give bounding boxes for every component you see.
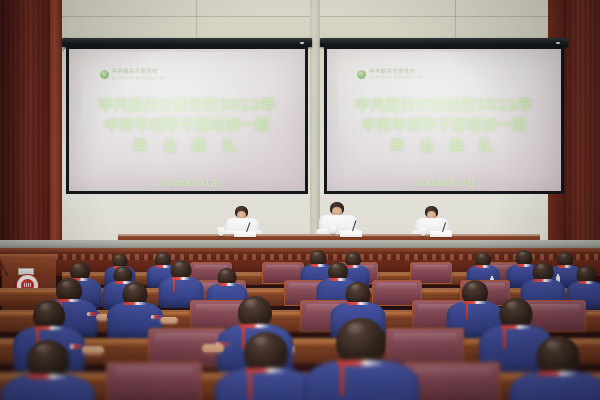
hair-highlight [159,254,165,258]
polo-collar [347,302,370,305]
hair-highlight [313,252,320,256]
polo-collar [476,265,490,268]
party-school-logo-icon [357,70,366,79]
slide-date: 2022年5月31日 [413,178,474,189]
name-plate [234,231,256,237]
conference-hall-photo: 中共韶关市委党校 韶关市行政学院 韶关市社会主义学院 中共韶关市委党校2022年… [0,0,600,400]
polo-collar [219,283,236,286]
left-slide: 中共韶关市委党校 韶关市行政学院 韶关市社会主义学院 中共韶关市委党校2022年… [69,49,305,191]
polo-collar [578,281,594,284]
slide-title: 中共韶关市委党校2022年 中青年领导干部培训一班 毕 业 典 礼 [98,96,275,157]
hair-highlight [118,268,126,273]
lanyard [503,329,506,349]
hair-highlight [351,284,361,291]
hair-highlight [175,262,183,268]
left-projection-screen[interactable]: 中共韶关市委党校 韶关市行政学院 韶关市社会主义学院 中共韶关市委党校2022年… [66,46,308,194]
hair-highlight [222,270,230,275]
audience-arm [160,317,178,324]
hair-highlight [479,254,485,258]
polo-collar [534,279,553,282]
tea-cup [420,228,426,236]
hair-highlight [36,344,53,355]
polo-collar [28,374,68,379]
slide-date: 2022年5月31日 [156,178,217,189]
slide-title-line-1: 中共韶关市委党校2022年 [355,96,532,116]
hair-highlight [128,284,138,291]
hair-highlight [519,252,526,256]
slide-title-line-2: 中青年领导干部培训一班 [98,116,275,136]
slide-logo-sub: 韶关市行政学院 韶关市社会主义学院 [369,76,423,79]
hair-highlight [74,264,82,269]
hair-highlight [347,323,367,336]
slide-title-line-3: 毕 业 典 礼 [98,137,275,157]
wall-seam [62,16,600,17]
hair-highlight [468,283,478,290]
hair-highlight [40,303,53,312]
audience-head [336,318,386,366]
hair-highlight [561,254,567,258]
slide-title-line-1: 中共韶关市委党校2022年 [98,96,275,116]
lanyard [466,304,468,320]
left-wood-pilaster [50,0,62,276]
slide-logo-org: 中共韶关市委党校 [112,70,166,75]
polo-collar [124,302,147,305]
party-school-logo-icon [100,70,109,79]
polo-collar [337,360,385,366]
housing-indicator-icon [556,42,560,44]
tea-cup [218,228,224,236]
right-projection-screen[interactable]: 中共韶关市委党校 韶关市行政学院 韶关市社会主义学院 中共韶关市委党校2022年… [324,46,564,194]
lanyard [340,366,344,396]
hair-highlight [537,264,545,270]
audience-member-foreground [302,318,420,400]
hair-highlight [581,268,589,273]
hair-highlight [332,264,340,269]
tea-cup [330,226,336,234]
hair-highlight [546,340,563,351]
slide-logo-sub: 韶关市行政学院 韶关市社会主义学院 [112,77,166,80]
audience-member-foreground [508,336,600,400]
right-slide: 中共韶关市委党校 韶关市行政学院 韶关市社会主义学院 中共韶关市委党校2022年… [327,49,561,191]
audience-chair[interactable] [106,362,202,400]
slide-title-line-2: 中青年领导干部培训一班 [355,116,532,136]
lanyard [173,279,175,292]
slide-logo: 中共韶关市委党校 韶关市行政学院 韶关市社会主义学院 [357,70,423,79]
slide-title-line-3: 毕 业 典 礼 [355,137,532,157]
hair-highlight [245,299,259,308]
lanyard [248,373,252,399]
housing-indicator-icon [300,42,304,44]
slide-logo: 中共韶关市委党校 韶关市行政学院 韶关市社会主义学院 [100,70,166,79]
hair-highlight [507,301,520,310]
polo-collar [329,278,347,281]
audience-member-foreground [0,340,96,400]
audience-polo-shirt [303,360,419,400]
slide-title: 中共韶关市委党校2022年 中青年领导干部培训一班 毕 业 典 礼 [355,96,532,157]
hair-highlight [349,254,355,258]
polo-collar [538,371,579,376]
hair-highlight [254,336,272,348]
name-plate [430,231,452,237]
name-plate [340,231,362,237]
hair-highlight [116,255,122,259]
hair-highlight [62,281,72,288]
